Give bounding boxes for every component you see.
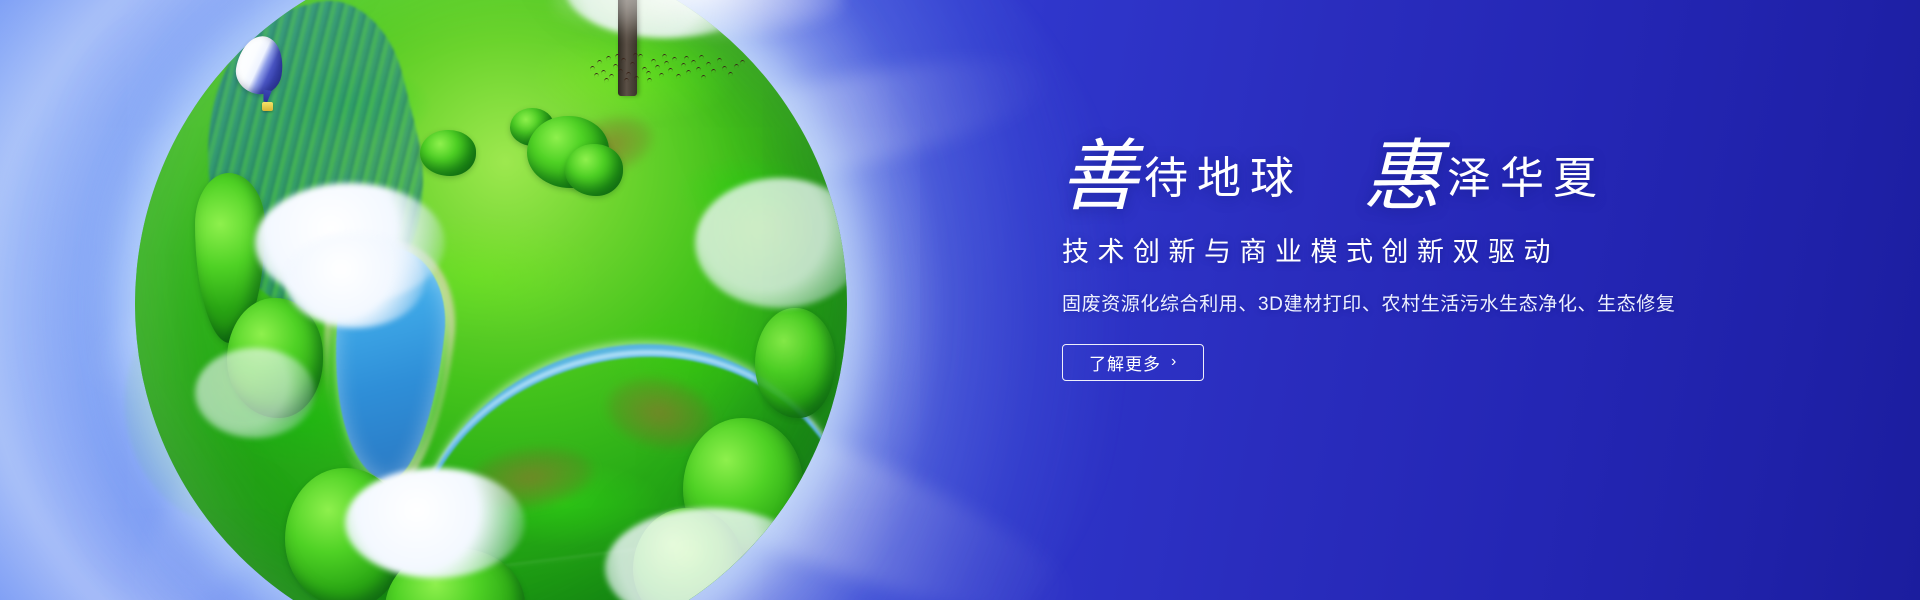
bird-icon [626, 72, 632, 77]
hero-copy: 善待地球惠泽华夏 技术创新与商业模式创新双驱动 固废资源化综合利用、3D建材打印… [1060, 138, 1820, 381]
bird-icon [728, 72, 734, 77]
tree-icon [195, 173, 265, 343]
bird-icon [662, 54, 668, 59]
bird-icon [722, 66, 728, 71]
bird-icon [647, 78, 653, 83]
headline-lead-char-1: 善 [1060, 133, 1144, 220]
bird-icon [606, 56, 612, 61]
cloud-icon [565, 0, 765, 38]
bird-icon [590, 66, 596, 71]
cloud-icon [345, 468, 525, 578]
bird-icon [651, 59, 657, 64]
bird-icon [624, 78, 630, 83]
bird-icon [668, 68, 674, 73]
tree-icon [385, 548, 525, 600]
tree-icon [527, 116, 609, 188]
bird-flock-icon [588, 48, 748, 88]
sky-wash [0, 0, 920, 600]
terrain-patch [279, 154, 392, 292]
river-icon [392, 320, 847, 575]
terrain-patch [599, 367, 721, 458]
cloud-icon [695, 178, 847, 308]
bird-icon [646, 71, 652, 76]
lake-shore [308, 234, 463, 496]
cloud-streak-icon [480, 318, 1100, 600]
cloud-streak-icon [206, 245, 674, 600]
cloud-streak-icon [297, 0, 864, 84]
bird-icon [711, 69, 717, 74]
hero-description: 固废资源化综合利用、3D建材打印、农村生活污水生态净化、生态修复 [1062, 289, 1820, 316]
balloon-basket [262, 102, 273, 111]
terrain-patch [461, 439, 598, 517]
bird-icon [717, 58, 723, 63]
bird-icon [740, 60, 746, 65]
bird-icon [615, 54, 621, 59]
tree-icon [285, 468, 405, 600]
bird-icon [672, 57, 678, 62]
headline-rest-2: 泽华夏 [1447, 154, 1606, 203]
bird-icon [621, 58, 627, 63]
cloud-icon [605, 508, 815, 600]
tree-icon [227, 298, 323, 418]
bird-icon [701, 75, 707, 80]
foreground-tree-icon [125, 278, 355, 528]
bird-icon [681, 63, 687, 68]
bird-icon [609, 74, 615, 79]
balloon-envelope [232, 32, 287, 97]
hot-air-balloon-icon [237, 36, 289, 124]
tree-icon [510, 108, 554, 146]
bird-icon [633, 53, 639, 58]
tree-icon [755, 308, 835, 418]
tree-icon [633, 508, 743, 600]
learn-more-button[interactable]: 了解更多 › [1062, 344, 1204, 381]
bird-icon [597, 60, 603, 65]
learn-more-label: 了解更多 [1089, 350, 1161, 375]
bird-icon [659, 73, 665, 78]
headline-rest-1: 待地球 [1144, 154, 1303, 203]
bird-icon [613, 64, 619, 69]
tree-icon [420, 130, 476, 176]
hero-subtitle: 技术创新与商业模式创新双驱动 [1062, 230, 1820, 269]
bird-icon [699, 55, 705, 60]
terrain-patch [559, 105, 662, 185]
bird-icon [638, 54, 644, 59]
tree-icon [565, 144, 623, 196]
cloud-icon [255, 183, 445, 303]
bird-icon [655, 65, 661, 70]
bird-icon [604, 78, 610, 83]
bird-icon [630, 62, 636, 67]
bird-icon [601, 70, 607, 75]
lake-icon [321, 243, 453, 485]
mist-overlay [553, 0, 843, 36]
tree-icon [683, 418, 803, 558]
bird-icon [686, 70, 692, 75]
bird-icon [664, 61, 670, 66]
river-highlight [386, 325, 847, 580]
cloud-icon [195, 348, 315, 438]
bird-icon [691, 60, 697, 65]
atmosphere-halo [0, 0, 1140, 600]
bird-icon [594, 73, 600, 78]
headline-lead-char-2: 惠 [1363, 133, 1447, 220]
bird-icon [696, 67, 702, 72]
chevron-right-icon: › [1171, 354, 1177, 370]
cloud-icon [285, 233, 425, 328]
hero-banner: 善待地球惠泽华夏 技术创新与商业模式创新双驱动 固废资源化综合利用、3D建材打印… [0, 0, 1920, 600]
cloud-streak-icon [117, 0, 743, 223]
bird-icon [634, 76, 640, 81]
bird-icon [706, 62, 712, 67]
bird-icon [676, 74, 682, 79]
mountain-ridge [172, 0, 453, 330]
bird-icon [734, 64, 740, 69]
cloud-streak-icon [92, 73, 588, 600]
bird-icon [618, 69, 624, 74]
page-title: 善待地球惠泽华夏 [1060, 138, 1820, 216]
bird-icon [684, 56, 690, 61]
